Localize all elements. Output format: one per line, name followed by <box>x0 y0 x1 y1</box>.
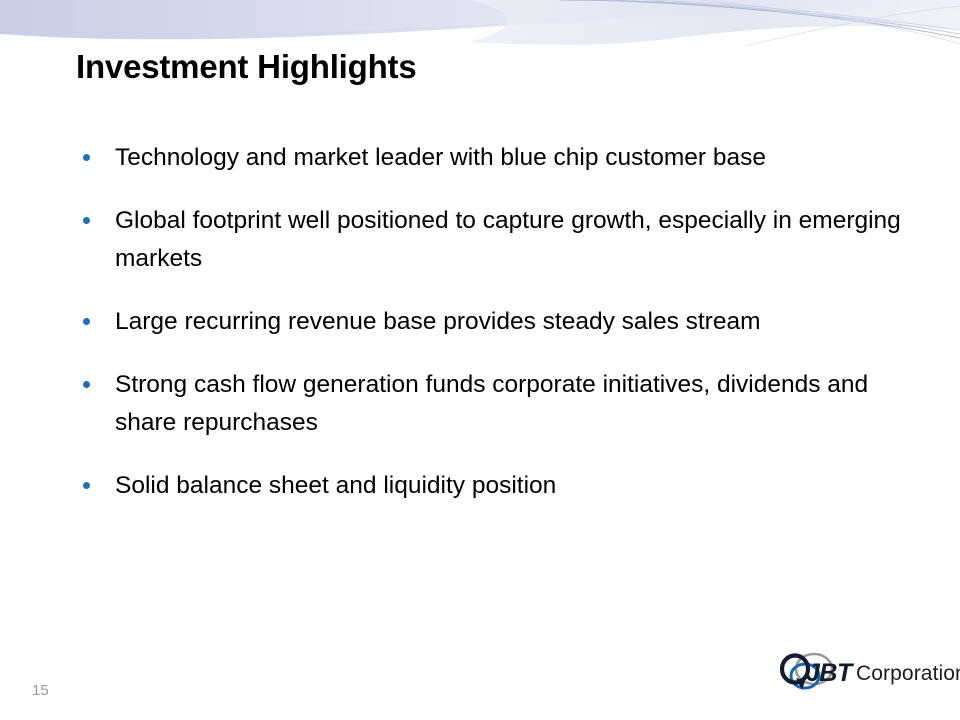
wave-line-1 <box>560 0 960 38</box>
list-item-label: Large recurring revenue base provides st… <box>115 303 916 341</box>
list-item: Solid balance sheet and liquidity positi… <box>76 467 916 505</box>
list-item-label: Technology and market leader with blue c… <box>115 139 916 177</box>
logo-wordmark-corporation: Corporation <box>856 662 960 686</box>
header-wave-decoration <box>0 0 960 46</box>
bullet-dot-icon <box>83 318 90 325</box>
wave-line-2 <box>600 0 960 34</box>
bullet-list: Technology and market leader with blue c… <box>76 139 916 505</box>
list-item-label: Solid balance sheet and liquidity positi… <box>115 467 916 505</box>
wave-line-3 <box>645 0 960 30</box>
list-item-label: Global footprint well positioned to capt… <box>115 202 916 278</box>
wave-line-6 <box>0 24 500 36</box>
wave-fill-secondary <box>470 0 960 45</box>
wave-fill-primary <box>0 0 960 39</box>
wave-line-5 <box>745 6 960 46</box>
list-item: Global footprint well positioned to capt… <box>76 202 916 278</box>
logo-wordmark-jbt: JBT <box>806 659 852 688</box>
jbt-corporation-logo: JBT Corporation <box>780 648 952 698</box>
wave-line-4 <box>700 0 960 44</box>
bullet-dot-icon <box>83 482 90 489</box>
bullet-dot-icon <box>83 217 90 224</box>
list-item: Technology and market leader with blue c… <box>76 139 916 177</box>
bullet-dot-icon <box>83 154 90 161</box>
list-item: Large recurring revenue base provides st… <box>76 303 916 341</box>
list-item: Strong cash flow generation funds corpor… <box>76 366 916 442</box>
slide-canvas: Investment Highlights Technology and mar… <box>0 0 960 720</box>
page-title: Investment Highlights <box>76 48 417 86</box>
list-item-label: Strong cash flow generation funds corpor… <box>115 366 916 442</box>
page-number: 15 <box>32 682 49 699</box>
bullet-dot-icon <box>83 381 90 388</box>
